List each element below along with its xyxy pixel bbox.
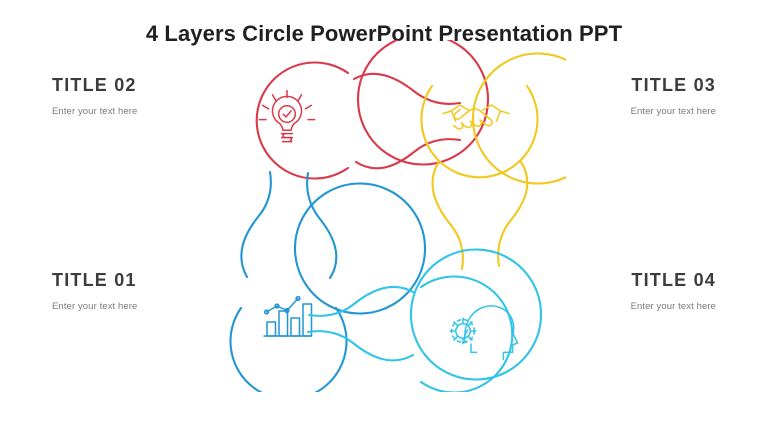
four-layer-circle-diagram: [202, 40, 566, 397]
lightbulb-check-icon: [259, 91, 314, 142]
handshake-icon: [443, 105, 509, 129]
bar-chart-growth-icon: [264, 297, 312, 336]
slide-canvas: 4 Layers Circle PowerPoint Presentation …: [0, 0, 768, 432]
diagram-node-title-01[interactable]: [231, 172, 425, 392]
